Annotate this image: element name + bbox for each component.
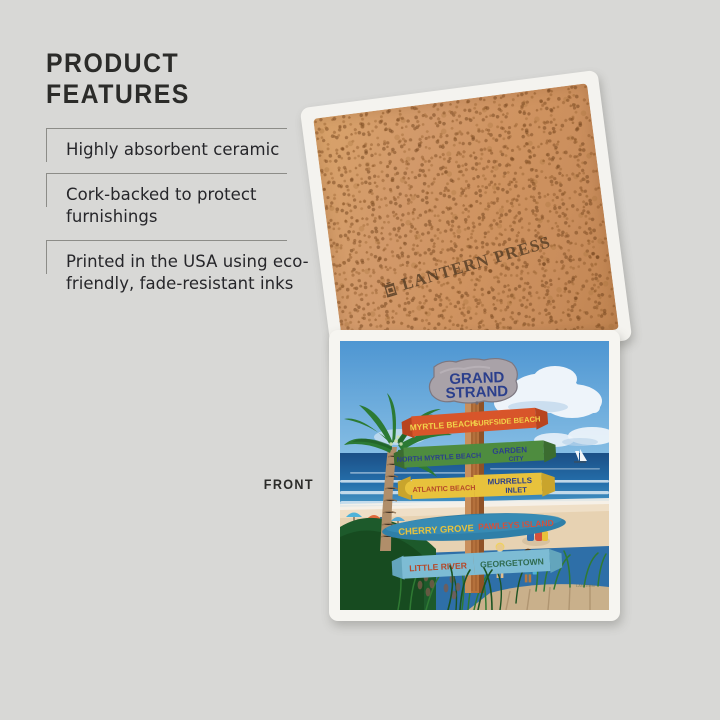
product-image-stage: PRODUCT FEATURES Highly absorbent cerami…: [0, 0, 720, 720]
front-label: FRONT: [264, 476, 314, 492]
brand-name: LANTERN PRESS: [399, 232, 553, 295]
feature-item: Highly absorbent ceramic: [46, 128, 314, 173]
divider-tick: [46, 240, 47, 274]
page-title: PRODUCT FEATURES: [46, 48, 293, 110]
divider-tick: [46, 173, 47, 207]
lantern-icon: [382, 280, 399, 298]
divider: [46, 173, 287, 174]
brand-stamp: LANTERN PRESS: [381, 232, 553, 300]
cork-surface: LANTERN PRESS: [313, 83, 619, 364]
feature-text: Cork-backed to protect furnishings: [66, 184, 314, 228]
svg-text:STRAND: STRAND: [445, 383, 508, 402]
feature-text: Highly absorbent ceramic: [66, 139, 314, 161]
product-features-panel: PRODUCT FEATURES Highly absorbent cerami…: [46, 48, 314, 307]
sign-grand-strand: GRAND STRAND: [429, 359, 517, 405]
front-coaster: GRAND STRAND MYRTLE BEACH SURFSIDE BEACH: [329, 330, 620, 621]
divider: [46, 240, 287, 241]
svg-text:INLET: INLET: [505, 485, 527, 495]
feature-text: Printed in the USA using eco-friendly, f…: [66, 251, 314, 295]
divider-tick: [46, 128, 47, 162]
feature-item: Cork-backed to protect furnishings: [46, 173, 314, 240]
artist-mark: LANTERN: [576, 583, 595, 588]
feature-item: Printed in the USA using eco-friendly, f…: [46, 240, 314, 307]
svg-text:CITY: CITY: [508, 455, 524, 463]
coaster-artwork: GRAND STRAND MYRTLE BEACH SURFSIDE BEACH: [340, 341, 609, 610]
divider: [46, 128, 287, 129]
signpost-illustration: GRAND STRAND MYRTLE BEACH SURFSIDE BEACH: [340, 341, 609, 610]
svg-text:GARDEN: GARDEN: [492, 445, 527, 456]
